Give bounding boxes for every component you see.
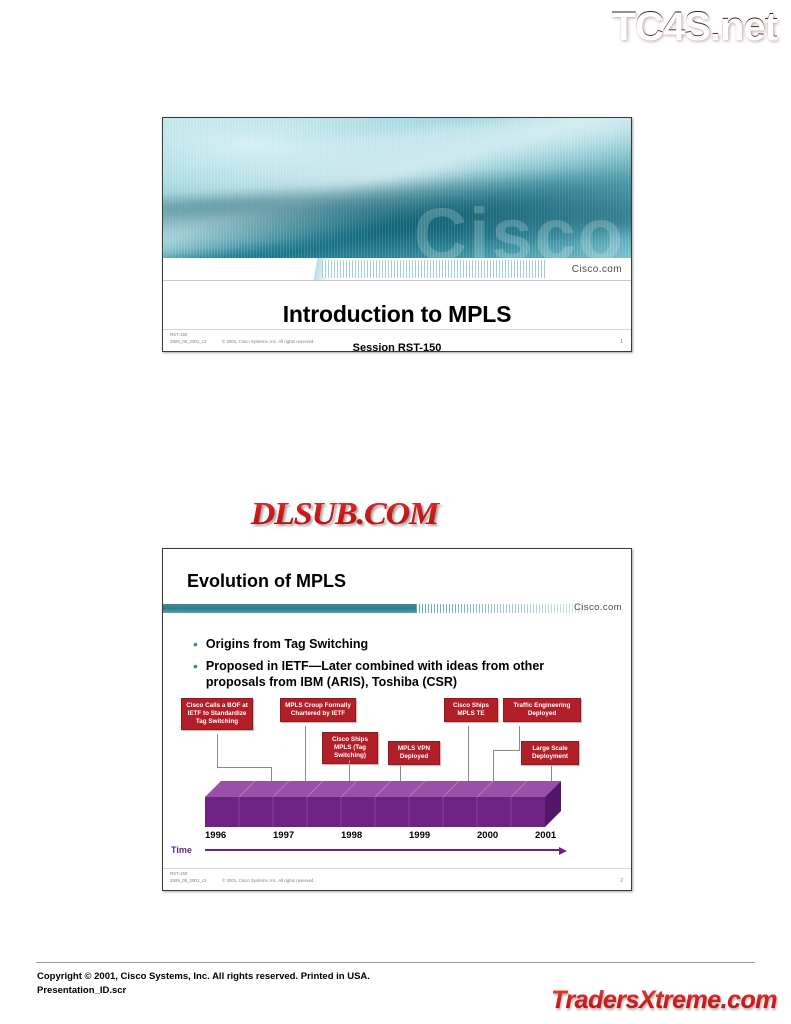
slide1-banner-strip: Cisco.com	[163, 258, 631, 280]
connector-line	[493, 750, 494, 783]
page-copyright-line2: Presentation_ID.scr	[37, 984, 370, 998]
site-watermark-bottom: TradersXtreme.com	[551, 986, 777, 1015]
bullet-item: • Origins from Tag Switching	[193, 637, 607, 652]
slide-1: Cisco Cisco.com Introduction to MPLS Ses…	[162, 117, 632, 352]
page-divider	[36, 962, 755, 963]
slide2-footer-copyright: © 2001, Cisco Systems, Inc. All rights r…	[222, 878, 315, 885]
timeline-bar-3d-icon	[205, 781, 561, 827]
bullet-text: Origins from Tag Switching	[206, 637, 368, 652]
slide1-footer-doc-code: 2926_05_2001_c2	[170, 339, 222, 346]
bullet-text: Proposed in IETF—Later combined with ide…	[206, 659, 607, 690]
year-label: 1999	[409, 830, 430, 841]
page-copyright-line1: Copyright © 2001, Cisco Systems, Inc. Al…	[37, 970, 370, 984]
rule-solid-segment	[163, 604, 416, 613]
bullet-item: • Proposed in IETF—Later combined with i…	[193, 659, 607, 690]
connector-line	[217, 767, 272, 768]
bullet-dot-icon: •	[193, 637, 198, 651]
slide-2: Evolution of MPLS Cisco.com • Origins fr…	[162, 548, 632, 891]
connector-line	[217, 734, 218, 767]
slide2-header: Evolution of MPLS Cisco.com	[163, 549, 631, 619]
slide1-footer: RST-150 2926_05_2001_c2 © 2001, Cisco Sy…	[163, 329, 631, 351]
page-copyright: Copyright © 2001, Cisco Systems, Inc. Al…	[37, 970, 370, 998]
callout-box: MPLS Croup Formally Chartered by IETF	[280, 698, 356, 722]
callout-box: Cisco Calls a BOF at IETF to Standardize…	[181, 698, 253, 730]
slide2-footer-doc-id: RST-150	[170, 871, 222, 878]
connector-line	[493, 750, 520, 751]
cisco-com-label: Cisco.com	[572, 264, 631, 275]
year-label: 1997	[273, 830, 294, 841]
slide2-title: Evolution of MPLS	[187, 571, 631, 592]
time-axis-arrow-icon	[559, 847, 567, 855]
slide1-banner: Cisco Cisco.com	[163, 118, 631, 281]
slide1-footer-copyright: © 2001, Cisco Systems, Inc. All rights r…	[222, 339, 315, 346]
bullet-dot-icon: •	[193, 659, 198, 673]
banner-stripes-icon	[322, 260, 547, 278]
slide1-page-number: 1	[620, 339, 623, 347]
slide2-footer: RST-150 2926_05_2001_c2 © 2001, Cisco Sy…	[163, 868, 631, 890]
connector-line	[349, 760, 350, 783]
callout-box: Cisco Ships MPLS TE	[444, 698, 498, 722]
callout-box: MPLS VPN Deployed	[388, 741, 440, 765]
year-label: 1998	[341, 830, 362, 841]
slide2-footer-doc-code: 2926_05_2001_c2	[170, 878, 222, 885]
callout-box: Traffic Engineering Deployed	[503, 698, 581, 722]
callout-box: Cisco Ships MPLS (Tag Switching)	[322, 732, 378, 764]
timeline-year-labels: 1996 1997 1998 1999 2000 2001	[205, 827, 561, 841]
dlsub-watermark: DLSUB.COM	[251, 495, 438, 532]
year-label: 2000	[477, 830, 498, 841]
year-label: 1996	[205, 830, 226, 841]
connector-line	[305, 726, 306, 783]
slide2-bullet-list: • Origins from Tag Switching • Proposed …	[163, 619, 631, 690]
slide2-page-number: 2	[620, 878, 623, 886]
callout-box: Large Scale Deployment	[521, 741, 579, 765]
timeline-bar	[205, 781, 561, 825]
slide1-title: Introduction to MPLS	[163, 301, 631, 328]
site-watermark-top: TC4S.net	[612, 4, 777, 49]
slide1-footer-doc-id: RST-150	[170, 332, 222, 339]
connector-line	[468, 726, 469, 783]
mpls-timeline-diagram: Cisco Calls a BOF at IETF to Standardize…	[163, 698, 631, 853]
time-axis-line	[205, 849, 561, 851]
cisco-com-label-2: Cisco.com	[574, 602, 622, 613]
time-axis-label: Time	[171, 845, 192, 855]
slide2-title-rule: Cisco.com	[163, 604, 631, 613]
year-label: 2001	[535, 830, 556, 841]
connector-line	[519, 726, 520, 750]
